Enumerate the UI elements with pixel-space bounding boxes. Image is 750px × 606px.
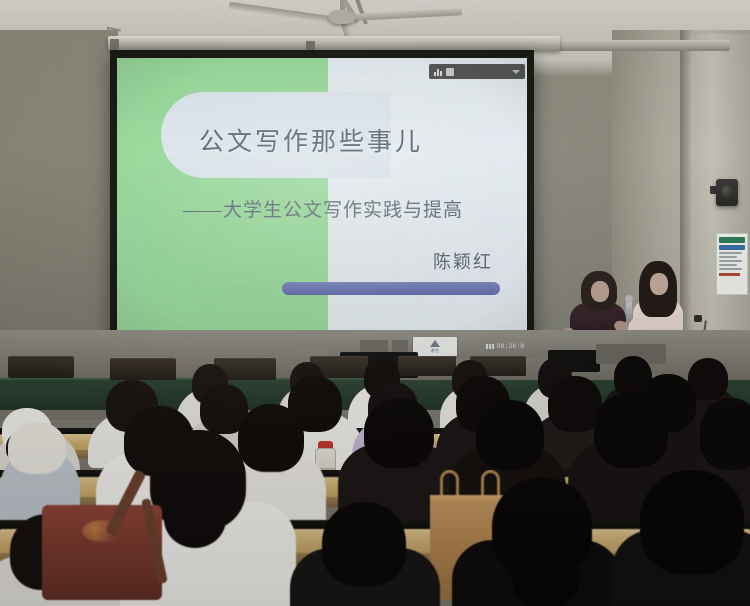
timer-value: 00:26:0 — [497, 343, 524, 350]
slide-title: 公文写作那些事儿 — [117, 122, 505, 158]
chart-icon[interactable] — [434, 68, 442, 76]
podium-timer: 00:26:0 — [486, 343, 524, 350]
cable-connector — [694, 315, 702, 322]
notice-line — [719, 260, 742, 262]
audience-head — [594, 392, 668, 468]
projection-screen-roller — [108, 36, 560, 51]
audience-head — [640, 470, 744, 574]
chairback — [398, 356, 456, 376]
audience-head — [476, 400, 544, 470]
notice-highlight — [719, 273, 740, 276]
notice-subheader — [719, 245, 745, 250]
audience-hair — [164, 490, 226, 548]
projection-screen[interactable]: 公文写作那些事儿 ——大学生公文写作实践与提高 陈颖红 — [117, 58, 527, 350]
audience-head — [364, 398, 434, 468]
audience-head — [322, 502, 406, 586]
powerpoint-slide[interactable]: 公文写作那些事儿 ——大学生公文写作实践与提高 陈颖红 — [117, 58, 527, 350]
notice-line — [719, 268, 742, 270]
ppt-overlay-toolbar[interactable] — [429, 64, 525, 79]
chairback — [110, 358, 176, 380]
chairback — [8, 356, 74, 378]
slide-accent-bar — [282, 282, 500, 295]
lecture-hall-scene: 公文写作那些事儿 ——大学生公文写作实践与提高 陈颖红 — [0, 0, 750, 606]
notice-line — [719, 252, 742, 254]
placard-emblem-icon — [430, 340, 440, 347]
podium-placard: 讲台 — [413, 337, 457, 356]
notice-line — [719, 264, 737, 266]
audience-head — [238, 404, 304, 472]
notice-header — [719, 237, 745, 243]
notice-line — [719, 256, 737, 258]
slide-author: 陈颖红 — [433, 248, 493, 274]
placard-text: 讲台 — [431, 348, 439, 354]
notice-board — [716, 233, 748, 295]
audience-head — [700, 398, 750, 470]
speaker-icon — [716, 179, 738, 206]
audience-hair — [512, 548, 580, 606]
signal-icon — [486, 344, 494, 349]
presenter-dark-face — [591, 281, 609, 302]
audience-head-with-cap — [8, 422, 66, 474]
presenter-light-face — [650, 273, 668, 295]
chevron-down-icon[interactable] — [512, 70, 520, 74]
microphone-icon — [626, 300, 632, 322]
slide-subtitle: ——大学生公文写作实践与提高 — [129, 195, 517, 222]
ceiling-fan-icon — [328, 10, 356, 24]
slide-icon[interactable] — [446, 68, 454, 76]
